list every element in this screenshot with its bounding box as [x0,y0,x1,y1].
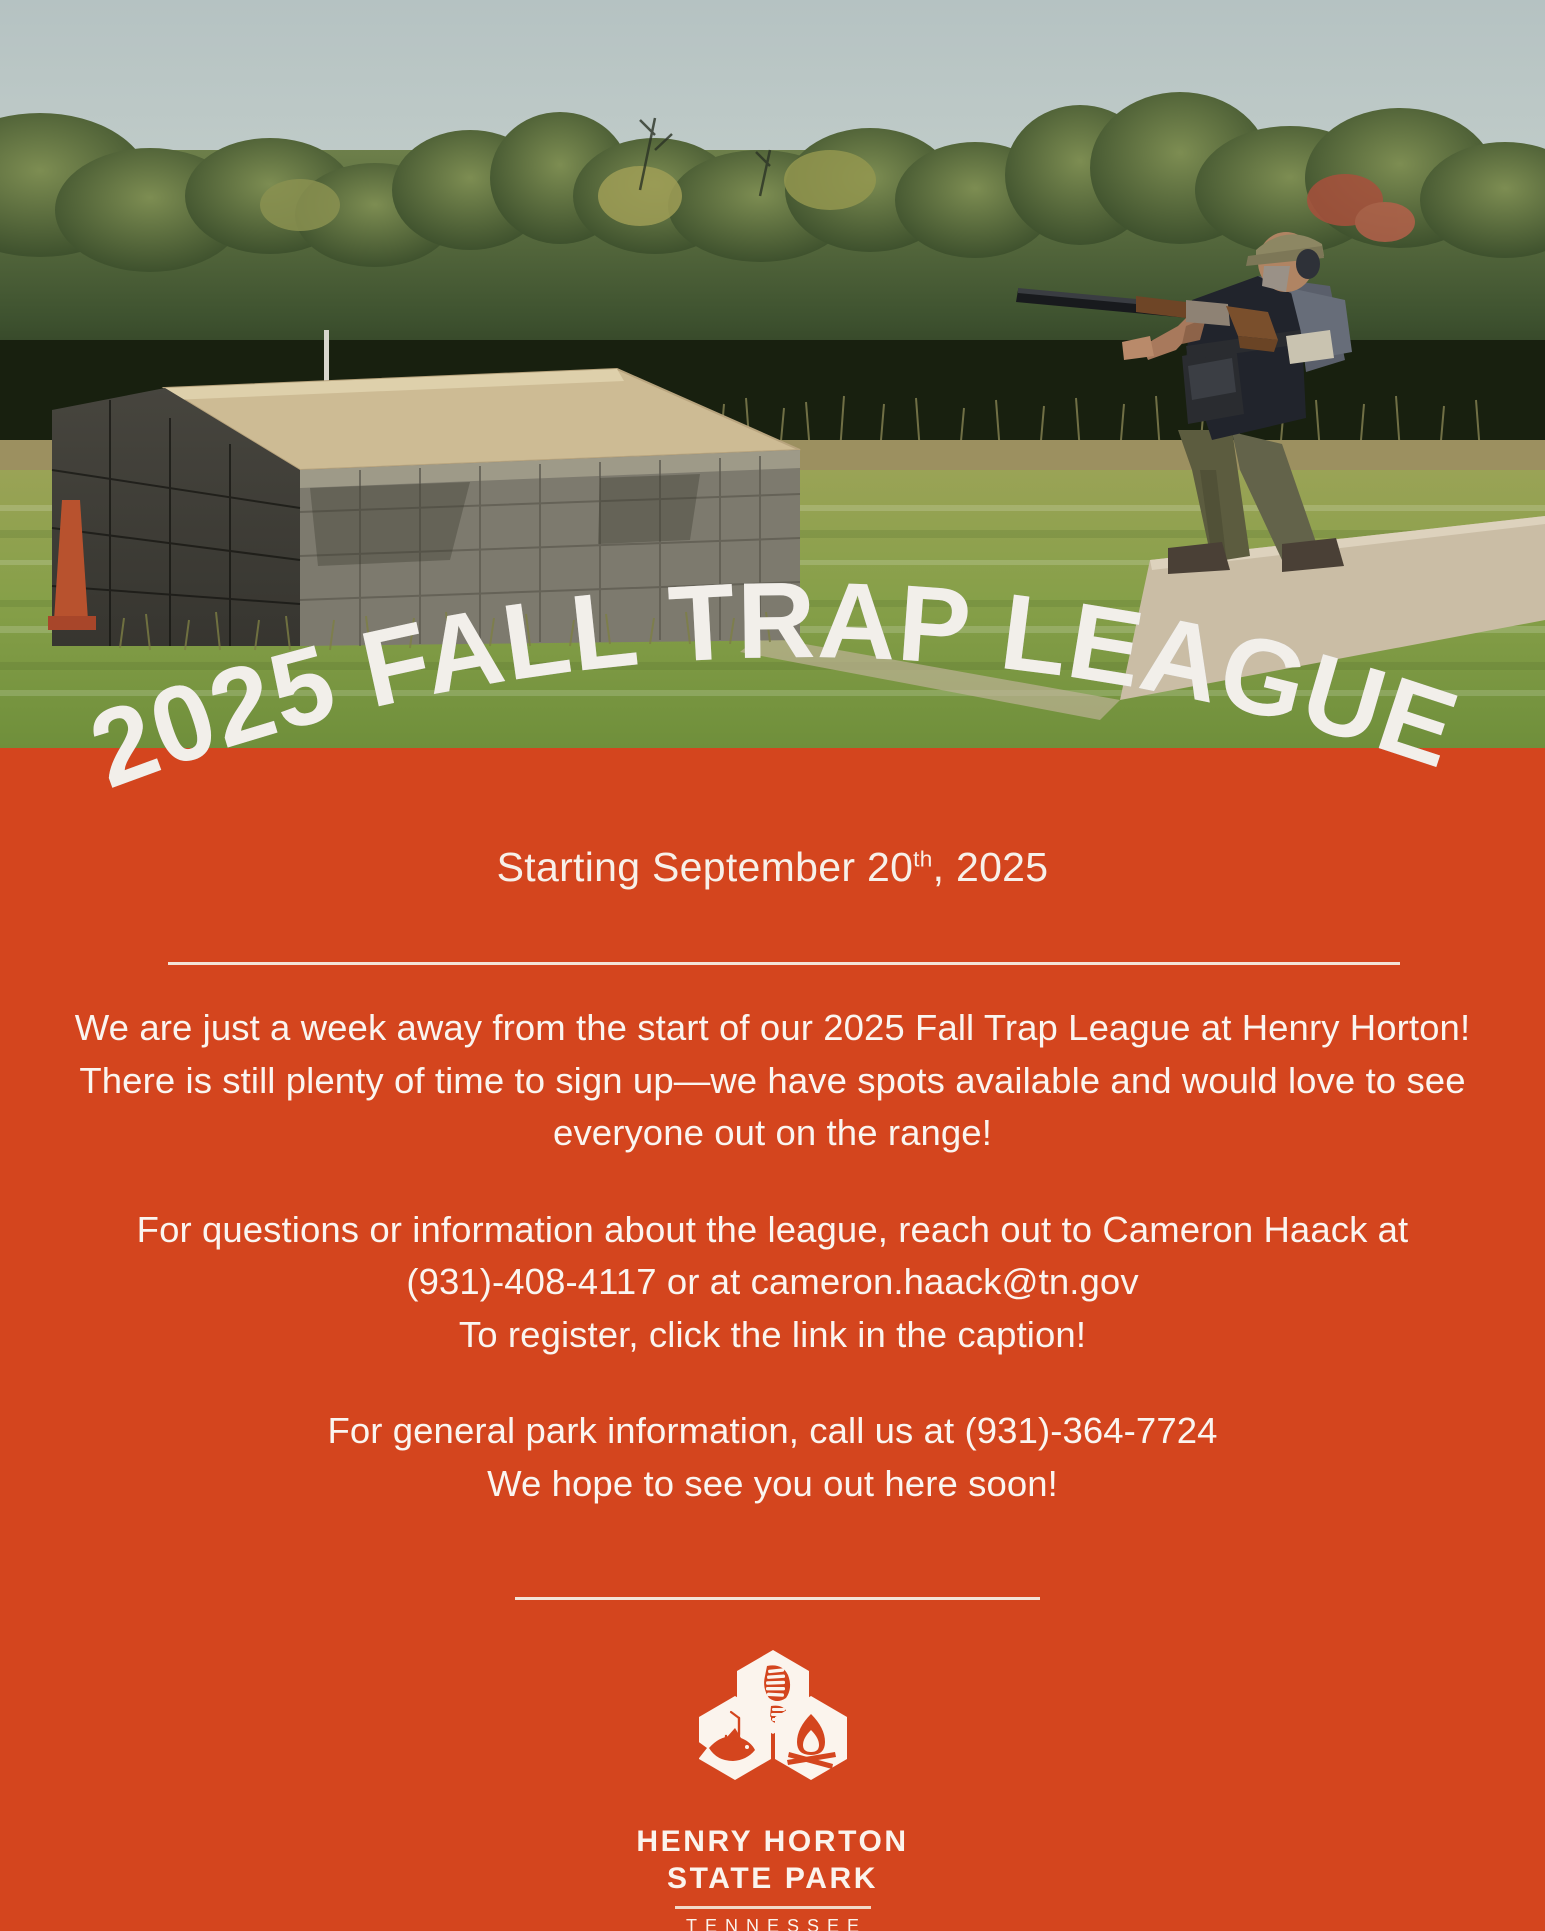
body-paragraph-2-line-1: For questions or information about the l… [72,1204,1473,1257]
subtitle-prefix: Starting September 20 [497,844,914,890]
divider-top [168,962,1400,965]
park-logo-line-3: TENNESSEE [678,1916,867,1931]
park-logo-rule [675,1906,871,1909]
subtitle-ordinal: th [913,846,932,871]
body-paragraph-2-line-2: (931)-408-4117 or at cameron.haack@tn.go… [72,1256,1473,1309]
body-paragraph-3-line-2: We hope to see you out here soon! [72,1458,1473,1511]
poster: 2025 FALL TRAP LEAGUE 2025 FALL TRAP LEA… [0,0,1545,1931]
park-logo-mark [683,1648,863,1808]
subtitle-suffix: , 2025 [933,844,1049,890]
body-paragraph-3-line-1: For general park information, call us at… [72,1405,1473,1458]
event-start-date: Starting September 20th, 2025 [0,845,1545,890]
hero-photo [0,0,1545,748]
body-paragraph-2-line-3: To register, click the link in the capti… [72,1309,1473,1362]
park-logo-line-1: HENRY HORTON [636,1824,908,1861]
body-paragraph-1: We are just a week away from the start o… [72,1002,1473,1160]
paragraph-gap-2 [72,1361,1473,1405]
body-copy: We are just a week away from the start o… [72,1002,1473,1510]
park-logo: HENRY HORTON STATE PARK TENNESSEE [0,1648,1545,1931]
divider-bottom [515,1597,1040,1600]
paragraph-gap-1 [72,1160,1473,1204]
hero-photo-illustration [0,0,1545,748]
park-logo-line-2: STATE PARK [667,1861,878,1898]
